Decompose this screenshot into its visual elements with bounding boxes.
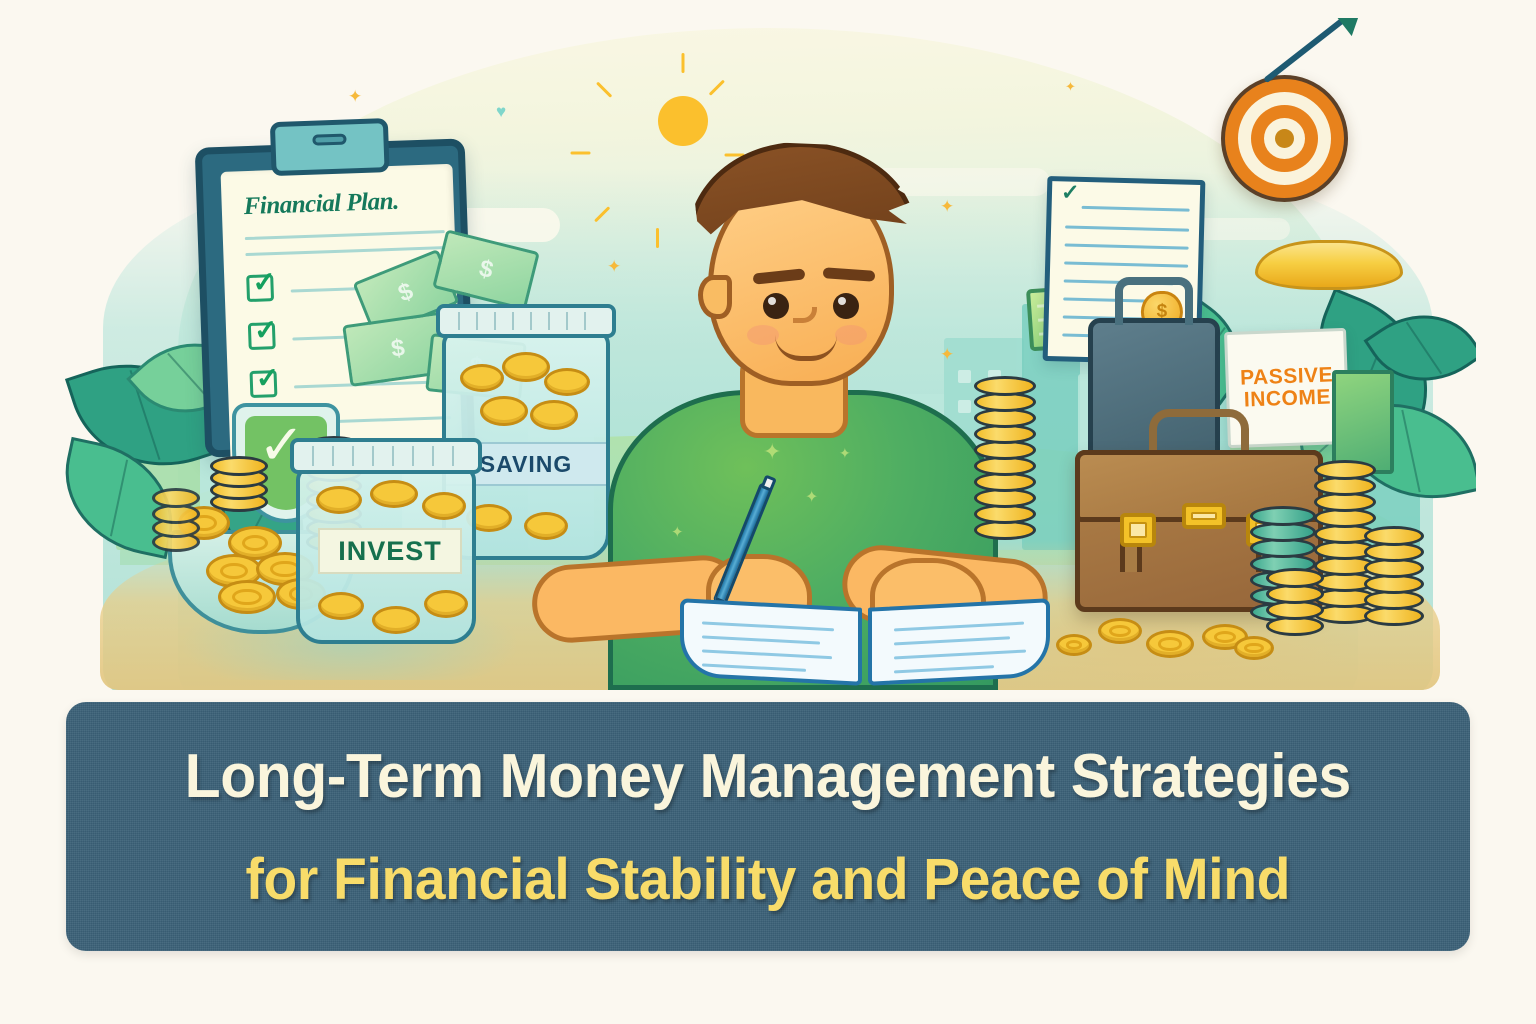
check-icon: ✓	[252, 268, 276, 297]
sparkle-icon: ✦	[839, 445, 851, 462]
gold-coin-icon	[1146, 630, 1194, 658]
clipboard-clamp-hole	[312, 134, 346, 146]
checklist-checkbox[interactable]: ✓	[249, 370, 277, 398]
gold-coin-icon	[1056, 634, 1092, 656]
gold-coin-icon	[422, 492, 466, 520]
banner-title-line-2: for Financial Stability and Peace of Min…	[246, 846, 1291, 913]
heart-icon: ♥	[496, 103, 506, 120]
coin-stack	[210, 456, 268, 514]
person-eyebrow	[823, 267, 876, 282]
gold-coin-icon	[1234, 636, 1274, 660]
check-icon: ✓	[255, 364, 279, 393]
sparkle-icon: ✦	[348, 88, 362, 105]
clipboard-clamp	[270, 118, 390, 176]
sparkle-icon: ✦	[671, 523, 684, 541]
arrow-icon	[1263, 18, 1353, 83]
gold-coin-icon	[218, 580, 276, 614]
open-book-icon	[680, 603, 1050, 685]
gold-coin-icon	[530, 400, 578, 430]
sparkle-icon: ✦	[763, 439, 781, 465]
invest-jar[interactable]: INVEST	[296, 466, 476, 644]
gold-coin-icon	[502, 352, 550, 382]
sparkle-icon: ✦	[805, 487, 818, 507]
invest-jar-label: INVEST	[318, 528, 462, 574]
gold-coin-icon	[460, 364, 504, 392]
person-eye	[763, 293, 789, 319]
person-eyebrow	[753, 268, 806, 284]
book-page-left	[680, 598, 862, 686]
book-page-right	[868, 598, 1050, 686]
briefcase-clasp[interactable]	[1182, 503, 1226, 529]
poster-canvas: ✦ ✦ ✦ ✦ ✦ ♥ ♥ Financial Plan. ✓	[0, 0, 1536, 1024]
title-banner: Long-Term Money Management Strategies fo…	[66, 702, 1470, 951]
person-eye	[833, 293, 859, 319]
gold-coin-icon	[1098, 618, 1142, 644]
coin-stack	[974, 368, 1036, 544]
invest-jar-lid	[290, 438, 482, 474]
target-bullseye-icon	[1221, 75, 1348, 202]
person-ear	[698, 275, 732, 319]
coin-stack	[1266, 566, 1324, 636]
illustration-scene: ✦ ✦ ✦ ✦ ✦ ♥ ♥ Financial Plan. ✓	[60, 18, 1476, 690]
checklist-checkbox[interactable]: ✓	[246, 274, 274, 302]
clipboard-title: Financial Plan.	[243, 188, 399, 221]
gold-coin-icon	[318, 592, 364, 620]
person-cheek	[835, 325, 867, 345]
check-icon: ✓	[254, 316, 278, 345]
gold-coin-icon	[1255, 240, 1403, 290]
gold-coin-icon	[372, 606, 420, 634]
gold-coin-icon	[480, 396, 528, 426]
briefcase-clasp[interactable]	[1120, 513, 1156, 547]
checklist-checkbox[interactable]: ✓	[248, 322, 276, 350]
gold-coin-icon	[424, 590, 468, 618]
coin-stack	[1364, 518, 1424, 628]
sign-line-2: INCOME	[1244, 386, 1332, 411]
gold-coin-icon	[370, 480, 418, 508]
check-icon: ✓	[1061, 179, 1080, 205]
coin-stack	[152, 488, 200, 552]
banner-title-line-1: Long-Term Money Management Strategies	[185, 741, 1351, 812]
gold-coin-icon	[316, 486, 362, 514]
person-nose	[793, 307, 817, 323]
person-mouth	[775, 335, 837, 361]
sparkle-icon: ✦	[1065, 80, 1076, 93]
gold-coin-icon	[524, 512, 568, 540]
